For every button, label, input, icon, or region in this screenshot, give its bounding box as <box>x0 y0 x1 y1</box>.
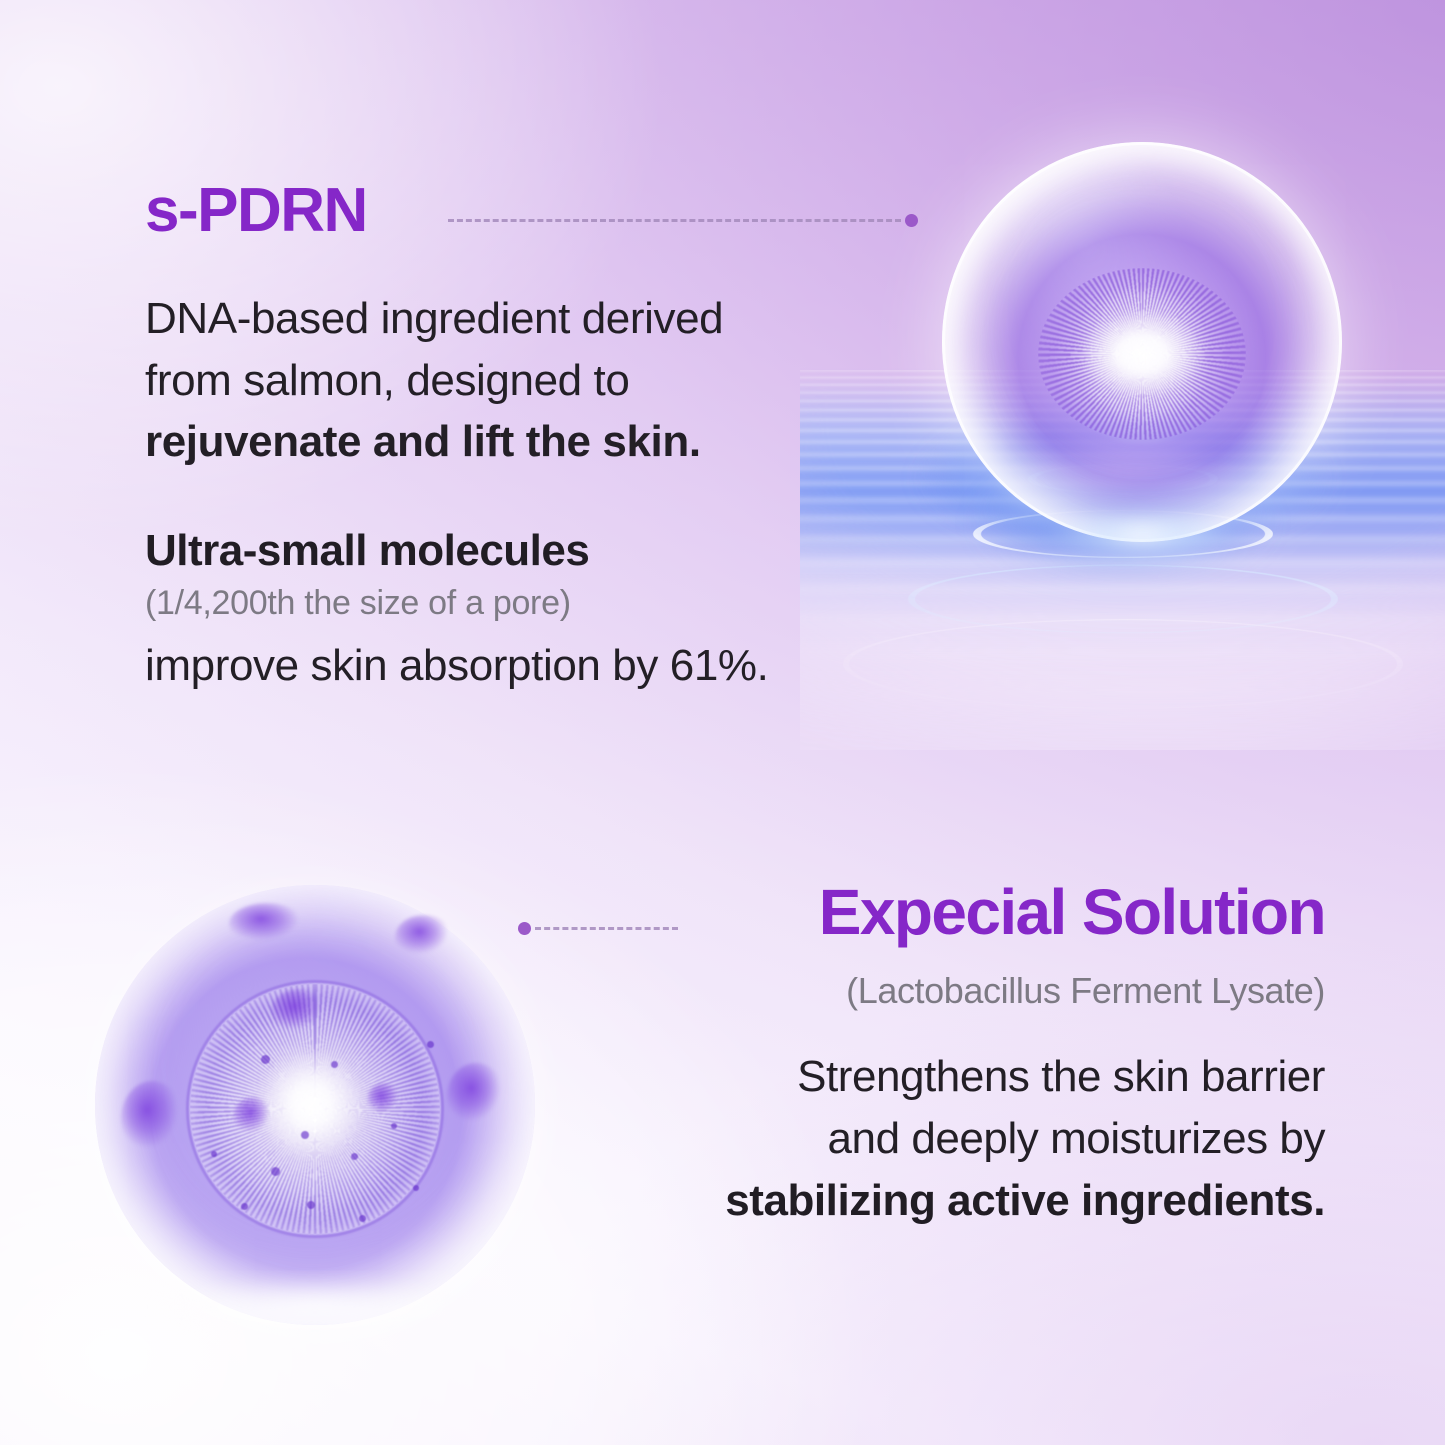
paragraph-three-line-1: Strengthens the skin barrier <box>797 1052 1325 1101</box>
paragraph-three-line-2: and deeply moisturizes by <box>828 1114 1325 1163</box>
pore-size-note: (1/4,200th the size of a pore) <box>145 581 845 625</box>
section-top-text: s-PDRN DNA-based ingredient derived from… <box>145 180 845 695</box>
ultra-small-molecules-lead: Ultra-small molecules <box>145 523 845 579</box>
paragraph-one-line-2: from salmon, designed to <box>145 356 629 405</box>
text-layer: s-PDRN DNA-based ingredient derived from… <box>0 0 1445 1445</box>
paragraph-three: Strengthens the skin barrier and deeply … <box>625 1046 1325 1231</box>
paragraph-two: Ultra-small molecules (1/4,200th the siz… <box>145 523 845 696</box>
absorption-stat-line: improve skin absorption by 61%. <box>145 637 845 695</box>
paragraph-one: DNA-based ingredient derived from salmon… <box>145 288 845 473</box>
eyebrow-s-pdrn: s-PDRN <box>145 180 845 242</box>
paragraph-three-line-3: stabilizing active ingredients. <box>725 1176 1325 1225</box>
headline-expecial-solution: Expecial Solution <box>625 880 1325 945</box>
paragraph-one-line-3: rejuvenate and lift the skin. <box>145 417 701 466</box>
subhead-lactobacillus: (Lactobacillus Ferment Lysate) <box>625 969 1325 1012</box>
section-bottom-text: Expecial Solution (Lactobacillus Ferment… <box>625 880 1325 1231</box>
paragraph-one-line-1: DNA-based ingredient derived <box>145 294 723 343</box>
